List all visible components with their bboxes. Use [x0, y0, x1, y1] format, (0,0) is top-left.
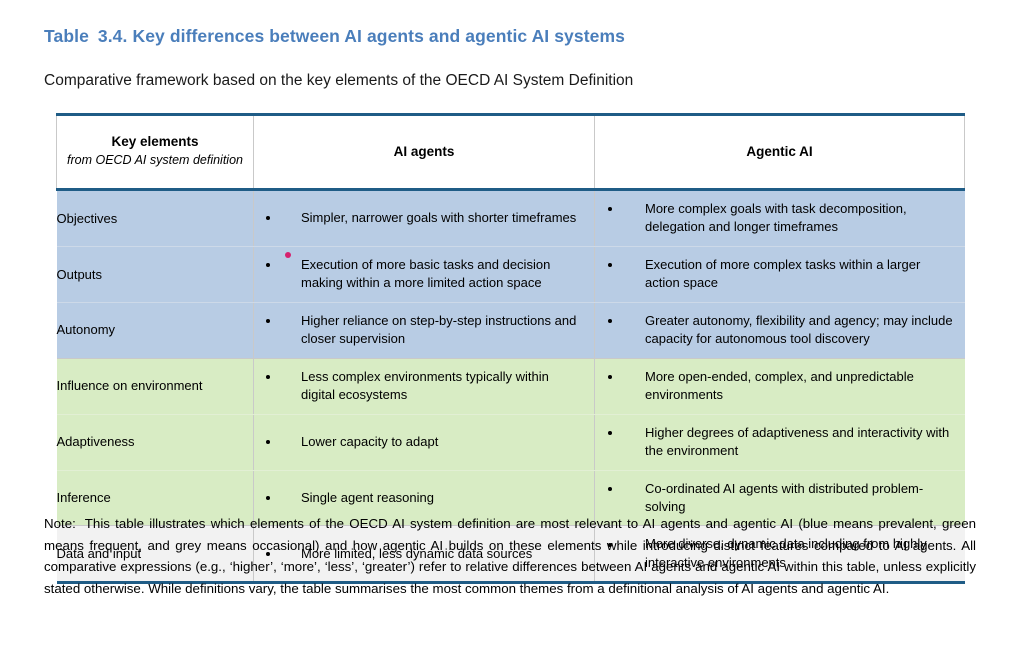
bullet-text: More complex goals with task decompositi…	[645, 201, 907, 234]
bullet-dot-icon	[608, 319, 612, 323]
table-note: Note:This table illustrates which elemen…	[44, 513, 976, 599]
bullet-dot-icon	[608, 207, 612, 211]
bullet-list: Execution of more complex tasks within a…	[595, 247, 965, 302]
bullet-dot-icon	[608, 431, 612, 435]
cell-agentic-ai: Execution of more complex tasks within a…	[595, 246, 965, 302]
bullet-text: Higher reliance on step-by-step instruct…	[301, 313, 576, 346]
row-key-element: Influence on environment	[57, 358, 254, 414]
cell-ai-agents: Simpler, narrower goals with shorter tim…	[254, 190, 595, 247]
bullet-list: Higher degrees of adaptiveness and inter…	[595, 415, 965, 470]
bullet-dot-icon	[266, 263, 270, 267]
cell-ai-agents: Less complex environments typically with…	[254, 358, 595, 414]
table-row: ObjectivesSimpler, narrower goals with s…	[57, 190, 965, 247]
cell-agentic-ai: Greater autonomy, flexibility and agency…	[595, 302, 965, 358]
row-key-element: Objectives	[57, 190, 254, 247]
table-header: Key elements from OECD AI system definit…	[57, 115, 965, 190]
column-header-key-elements: Key elements from OECD AI system definit…	[57, 115, 254, 190]
table-row: AutonomyHigher reliance on step-by-step …	[57, 302, 965, 358]
bullet-item: Greater autonomy, flexibility and agency…	[595, 312, 955, 349]
bullet-text: More open-ended, complex, and unpredicta…	[645, 369, 914, 402]
column-header-key-elements-main: Key elements	[63, 132, 247, 152]
bullet-text: Less complex environments typically with…	[301, 369, 549, 402]
bullet-item: Higher degrees of adaptiveness and inter…	[595, 424, 955, 461]
bullet-text: Greater autonomy, flexibility and agency…	[645, 313, 953, 346]
title-number: 3.4.	[94, 26, 128, 46]
row-key-element: Adaptiveness	[57, 414, 254, 470]
bullet-item: Simpler, narrower goals with shorter tim…	[254, 209, 584, 227]
bullet-text: Co-ordinated AI agents with distributed …	[645, 481, 923, 514]
title-text: Key differences between AI agents and ag…	[132, 26, 625, 46]
bullet-item: Less complex environments typically with…	[254, 368, 584, 405]
table-subtitle: Comparative framework based on the key e…	[44, 72, 633, 90]
bullet-item: Co-ordinated AI agents with distributed …	[595, 480, 955, 517]
bullet-list: Less complex environments typically with…	[254, 359, 594, 414]
column-header-ai-agents: AI agents	[254, 115, 595, 190]
column-header-agentic-ai-label: Agentic AI	[601, 144, 958, 159]
column-header-key-elements-sub: from OECD AI system definition	[63, 152, 247, 170]
cell-ai-agents: Higher reliance on step-by-step instruct…	[254, 302, 595, 358]
bullet-item: Lower capacity to adapt	[254, 433, 584, 451]
bullet-list: Execution of more basic tasks and decisi…	[254, 247, 594, 302]
column-header-agentic-ai: Agentic AI	[595, 115, 965, 190]
bullet-text: Single agent reasoning	[301, 490, 434, 505]
bullet-text: Execution of more complex tasks within a…	[645, 257, 920, 290]
cursor-marker-dot	[285, 252, 291, 258]
page-title: Table 3.4. Key differences between AI ag…	[44, 26, 625, 47]
bullet-dot-icon	[608, 263, 612, 267]
bullet-list: Greater autonomy, flexibility and agency…	[595, 303, 965, 358]
table-row: Influence on environmentLess complex env…	[57, 358, 965, 414]
bullet-dot-icon	[608, 487, 612, 491]
bullet-dot-icon	[266, 375, 270, 379]
cell-agentic-ai: More complex goals with task decompositi…	[595, 190, 965, 247]
table-row: AdaptivenessLower capacity to adaptHighe…	[57, 414, 965, 470]
table-page: Table 3.4. Key differences between AI ag…	[0, 0, 1015, 661]
bullet-dot-icon	[266, 319, 270, 323]
row-key-element: Outputs	[57, 246, 254, 302]
bullet-dot-icon	[266, 216, 270, 220]
bullet-text: Execution of more basic tasks and decisi…	[301, 257, 550, 290]
bullet-item: Higher reliance on step-by-step instruct…	[254, 312, 584, 349]
bullet-dot-icon	[608, 375, 612, 379]
column-header-ai-agents-label: AI agents	[260, 144, 588, 159]
row-key-element: Autonomy	[57, 302, 254, 358]
bullet-list: More complex goals with task decompositi…	[595, 191, 965, 246]
cell-agentic-ai: Higher degrees of adaptiveness and inter…	[595, 414, 965, 470]
bullet-list: Single agent reasoning	[254, 480, 594, 516]
bullet-item: Execution of more basic tasks and decisi…	[254, 256, 584, 293]
bullet-list: More open-ended, complex, and unpredicta…	[595, 359, 965, 414]
bullet-item: More open-ended, complex, and unpredicta…	[595, 368, 955, 405]
bullet-list: Lower capacity to adapt	[254, 424, 594, 460]
bullet-text: Higher degrees of adaptiveness and inter…	[645, 425, 949, 458]
bullet-dot-icon	[266, 440, 270, 444]
bullet-text: Simpler, narrower goals with shorter tim…	[301, 210, 576, 225]
table-row: OutputsExecution of more basic tasks and…	[57, 246, 965, 302]
bullet-list: Higher reliance on step-by-step instruct…	[254, 303, 594, 358]
title-prefix: Table	[44, 26, 89, 46]
bullet-dot-icon	[266, 496, 270, 500]
bullet-list: Simpler, narrower goals with shorter tim…	[254, 200, 594, 236]
bullet-item: Execution of more complex tasks within a…	[595, 256, 955, 293]
cell-ai-agents: Execution of more basic tasks and decisi…	[254, 246, 595, 302]
bullet-item: Single agent reasoning	[254, 489, 584, 507]
cell-ai-agents: Lower capacity to adapt	[254, 414, 595, 470]
note-body: This table illustrates which elements of…	[44, 516, 976, 596]
bullet-item: More complex goals with task decompositi…	[595, 200, 955, 237]
cell-agentic-ai: More open-ended, complex, and unpredicta…	[595, 358, 965, 414]
bullet-text: Lower capacity to adapt	[301, 434, 438, 449]
note-label: Note:	[44, 516, 85, 531]
table-header-row: Key elements from OECD AI system definit…	[57, 115, 965, 190]
